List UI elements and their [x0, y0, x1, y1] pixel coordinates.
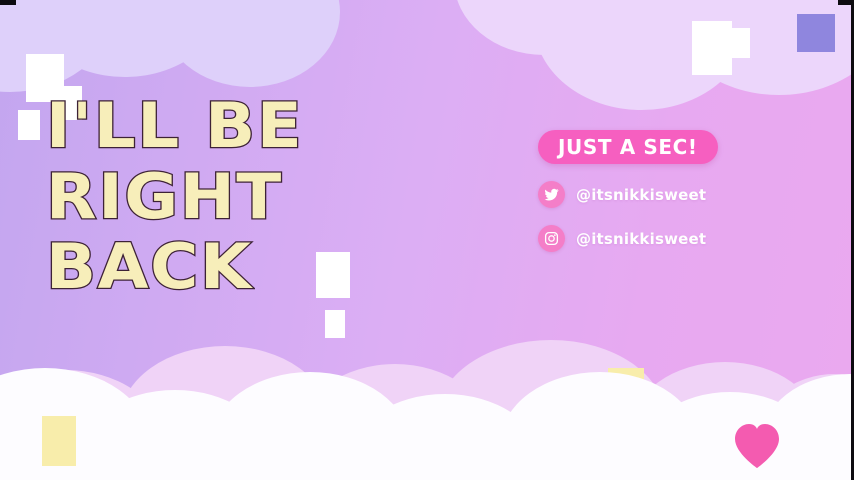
status-badge: JUST A SEC!	[538, 130, 718, 164]
title-line-3: BACK	[46, 237, 303, 297]
social-row-twitter[interactable]: @itsnikkisweet	[538, 181, 798, 208]
page-title: I'LL BE RIGHT BACK	[46, 96, 289, 308]
sparkle-icon	[42, 416, 76, 466]
sparkle-icon	[18, 110, 40, 140]
instagram-icon[interactable]	[538, 225, 565, 252]
brb-overlay-canvas: I'LL BE RIGHT BACK JUST A SEC! @itsnikki…	[0, 0, 854, 480]
sparkle-icon	[316, 252, 350, 298]
info-panel: JUST A SEC! @itsnikkisweet @itsnikkiswee…	[538, 130, 798, 252]
social-handle-twitter: @itsnikkisweet	[576, 186, 706, 204]
sparkle-icon	[728, 28, 750, 58]
heart-icon	[733, 424, 781, 470]
cloud-band-back	[0, 340, 854, 480]
twitter-icon[interactable]	[538, 181, 565, 208]
title-line-2: RIGHT	[46, 167, 303, 227]
star-icon	[486, 419, 522, 455]
social-row-instagram[interactable]: @itsnikkisweet	[538, 225, 798, 252]
status-badge-label: JUST A SEC!	[558, 135, 698, 159]
social-handle-instagram: @itsnikkisweet	[576, 230, 706, 248]
title-line-1: I'LL BE	[46, 96, 303, 156]
sparkle-icon	[692, 21, 732, 75]
cloud-band-front	[0, 360, 854, 480]
sparkle-icon	[325, 310, 345, 338]
letterbox-edge-top-left	[0, 0, 16, 5]
heart-icon	[282, 377, 330, 423]
sparkle-icon	[608, 368, 644, 420]
star-icon	[797, 14, 835, 52]
